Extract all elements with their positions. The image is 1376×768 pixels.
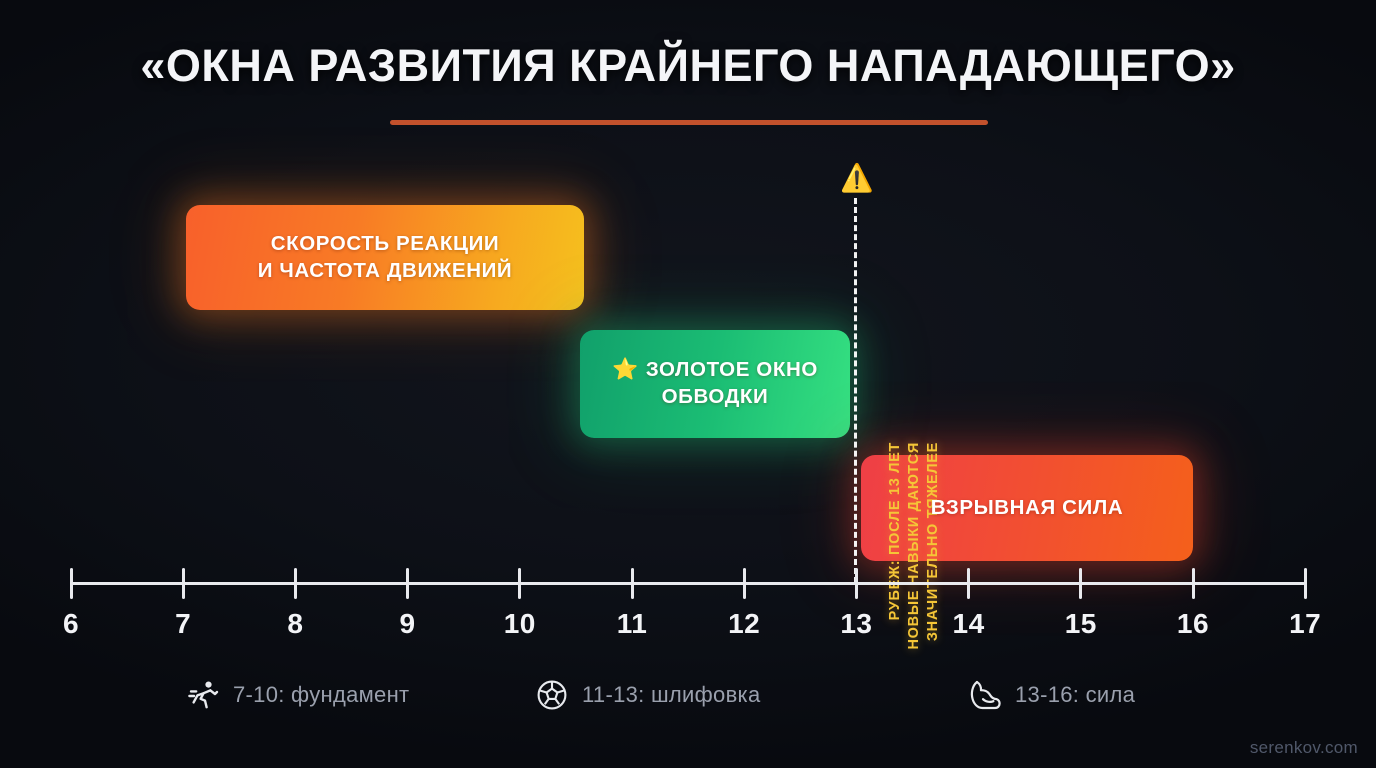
legend-item-polish: 11-13: шлифовка <box>535 670 761 720</box>
axis-tick-label: 7 <box>148 608 218 640</box>
bar-dribble: ⭐ЗОЛОТОЕ ОКНО ОБВОДКИ <box>580 330 850 438</box>
axis-tick <box>518 568 521 599</box>
legend-label-strength: 13-16: сила <box>1015 682 1135 708</box>
bar-dribble-line1: ⭐ЗОЛОТОЕ ОКНО <box>612 357 818 384</box>
bar-dribble-line2: ОБВОДКИ <box>612 384 818 410</box>
flexed-biceps-icon <box>968 678 1002 712</box>
axis-tick <box>855 568 858 599</box>
bar-power-text: ВЗРЫВНАЯ СИЛА <box>931 495 1124 521</box>
axis-tick <box>1304 568 1307 599</box>
legend-label-polish: 11-13: шлифовка <box>582 682 761 708</box>
soccer-ball-icon <box>535 678 569 712</box>
bar-power-line1: ВЗРЫВНАЯ СИЛА <box>931 495 1124 521</box>
legend-label-foundation: 7-10: фундамент <box>233 682 409 708</box>
axis-tick-label: 11 <box>597 608 667 640</box>
star-icon: ⭐ <box>612 358 639 381</box>
axis-tick <box>631 568 634 599</box>
axis-tick-label: 10 <box>485 608 555 640</box>
axis-tick <box>70 568 73 599</box>
axis-tick-label: 6 <box>36 608 106 640</box>
axis-tick-label: 8 <box>260 608 330 640</box>
axis-tick-label: 9 <box>373 608 443 640</box>
bar-speed-text: СКОРОСТЬ РЕАКЦИИ И ЧАСТОТА ДВИЖЕНИЙ <box>258 231 513 283</box>
bar-dribble-line1-label: ЗОЛОТОЕ ОКНО <box>646 358 818 381</box>
timeline-axis <box>71 582 1305 585</box>
title-underline <box>390 120 988 125</box>
axis-tick-label: 14 <box>934 608 1004 640</box>
axis-tick <box>406 568 409 599</box>
infographic-canvas: «ОКНА РАЗВИТИЯ КРАЙНЕГО НАПАДАЮЩЕГО» СКО… <box>0 0 1376 768</box>
bar-dribble-text: ⭐ЗОЛОТОЕ ОКНО ОБВОДКИ <box>612 357 818 410</box>
warning-icon: ⚠️ <box>840 163 872 193</box>
legend-item-strength: 13-16: сила <box>968 670 1135 720</box>
axis-tick-label: 12 <box>709 608 779 640</box>
bar-speed-line2: И ЧАСТОТА ДВИЖЕНИЙ <box>258 258 513 284</box>
watermark: serenkov.com <box>1250 738 1358 758</box>
page-title: «ОКНА РАЗВИТИЯ КРАЙНЕГО НАПАДАЮЩЕГО» <box>0 40 1376 92</box>
legend-item-foundation: 7-10: фундамент <box>186 670 409 720</box>
axis-tick-label: 13 <box>821 608 891 640</box>
running-icon <box>186 678 220 712</box>
legend: 7-10: фундамент 11-13: шлифовка <box>0 670 1376 722</box>
axis-tick <box>294 568 297 599</box>
marker-note: РУБЕЖ: ПОСЛЕ 13 ЛЕТ НОВЫЕ НАВЫКИ ДАЮТСЯ … <box>862 196 1112 446</box>
axis-tick <box>1192 568 1195 599</box>
axis-tick-label: 17 <box>1270 608 1340 640</box>
bar-speed: СКОРОСТЬ РЕАКЦИИ И ЧАСТОТА ДВИЖЕНИЙ <box>186 205 584 310</box>
axis-tick <box>743 568 746 599</box>
axis-tick-label: 15 <box>1046 608 1116 640</box>
axis-tick-label: 16 <box>1158 608 1228 640</box>
axis-tick <box>182 568 185 599</box>
axis-tick <box>967 568 970 599</box>
bar-speed-line1: СКОРОСТЬ РЕАКЦИИ <box>258 231 513 257</box>
marker-dashed-line <box>854 198 857 583</box>
marker-note-line2: НОВЫЕ НАВЫКИ ДАЮТСЯ <box>906 442 922 649</box>
marker-note-line1: РУБЕЖ: ПОСЛЕ 13 ЛЕТ <box>887 442 903 620</box>
axis-tick <box>1079 568 1082 599</box>
